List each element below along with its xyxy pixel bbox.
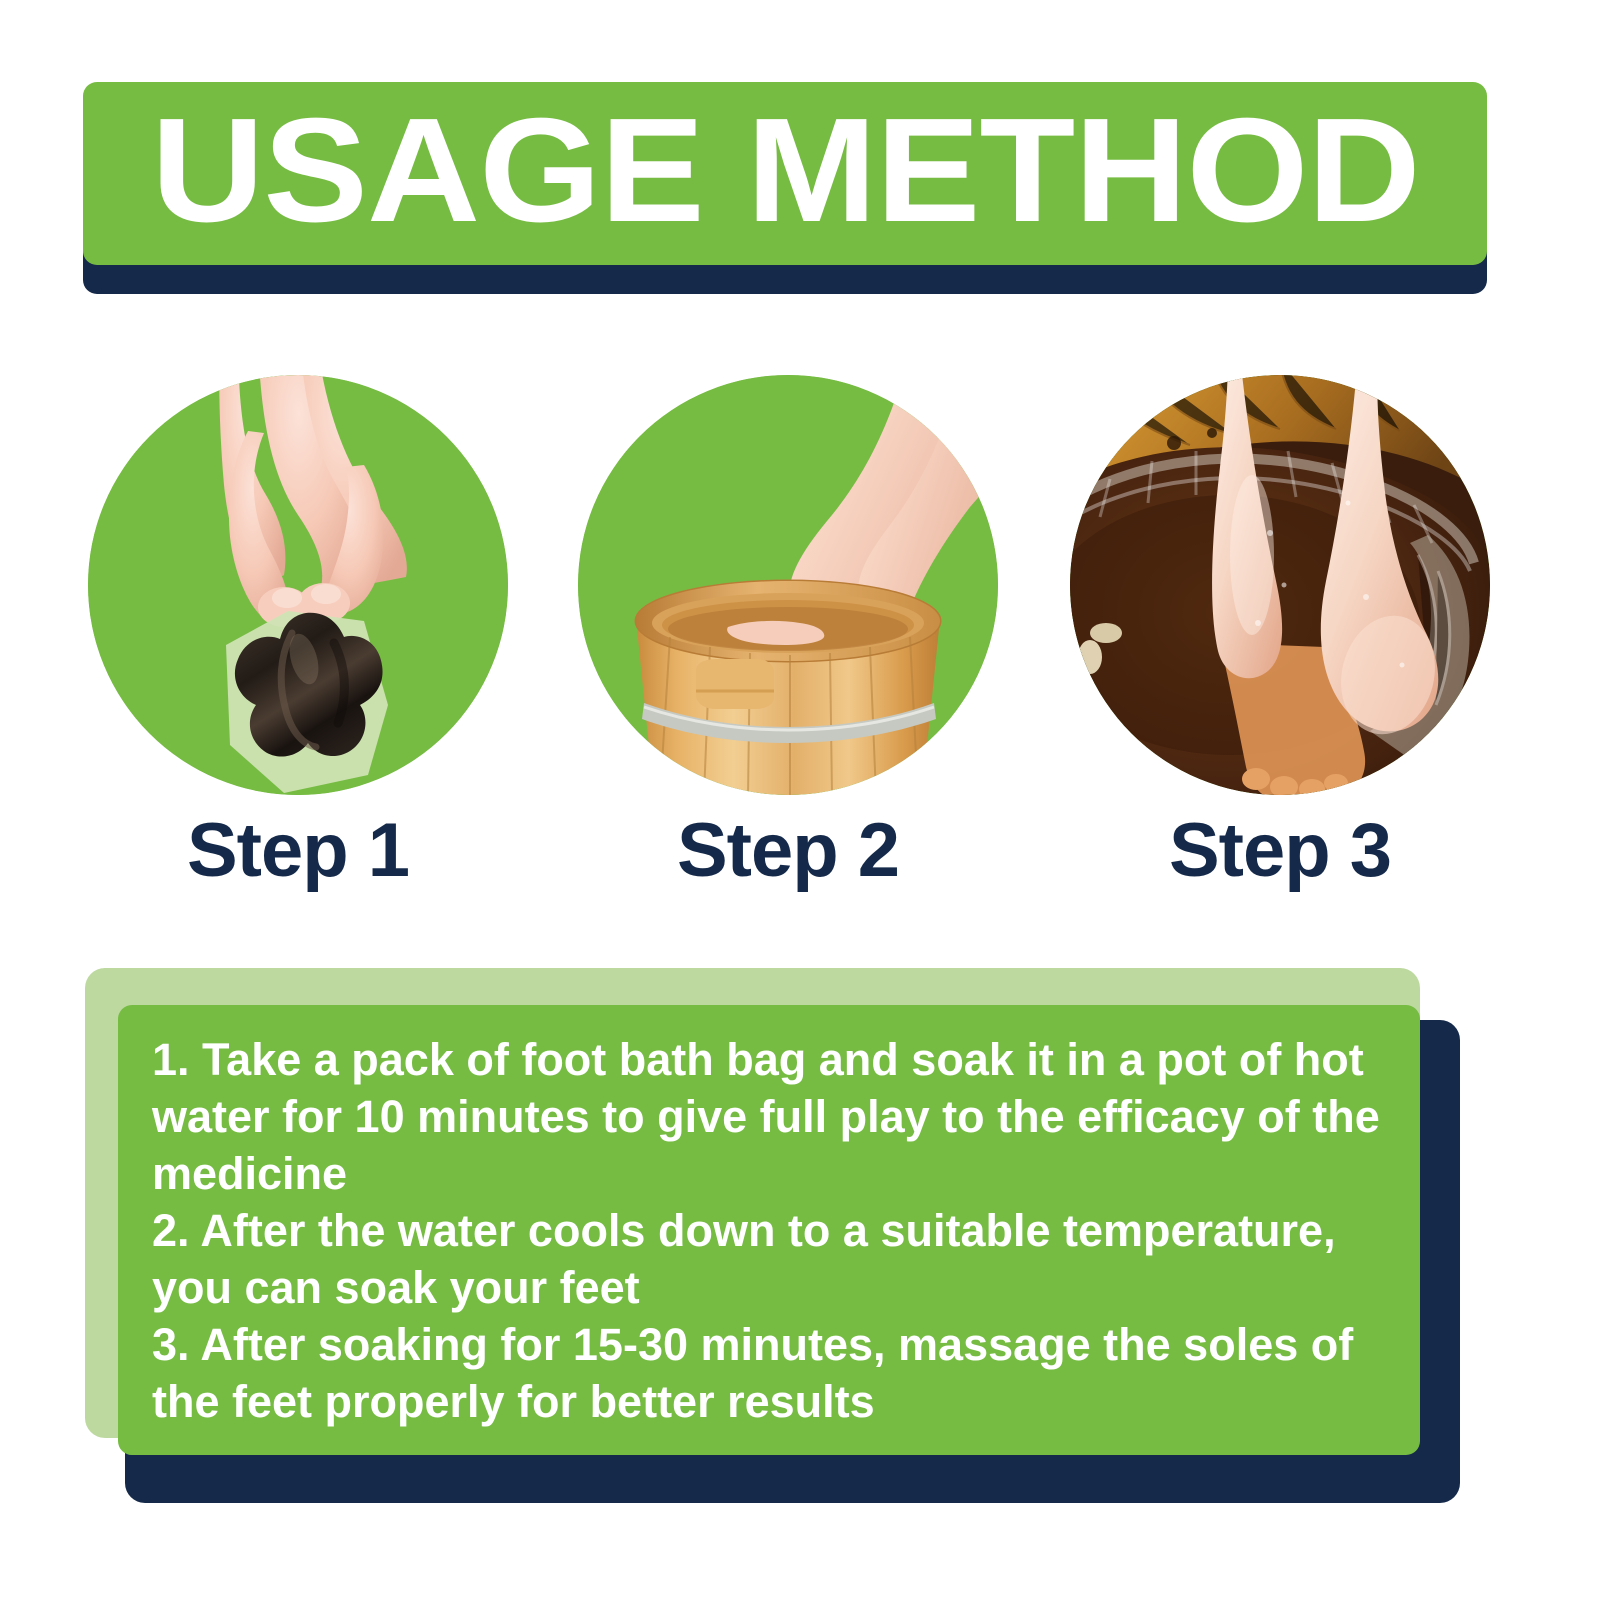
instruction-line-1: 1. Take a pack of foot bath bag and soak… <box>152 1031 1386 1202</box>
instruction-line-3: 3. After soaking for 15-30 minutes, mass… <box>152 1316 1386 1430</box>
step-3-caption: Step 3 <box>1070 811 1490 891</box>
page-title: USAGE METHOD <box>151 97 1420 245</box>
feet-in-wooden-foot-bath-tub-illustration <box>578 375 998 795</box>
instructions-panel: 1. Take a pack of foot bath bag and soak… <box>85 968 1460 1503</box>
step-2-image-circle <box>578 375 998 795</box>
feet-soaking-in-brown-herbal-water-illustration <box>1070 375 1490 795</box>
step-item-2: Step 2 <box>578 375 998 891</box>
step-3-image-circle <box>1070 375 1490 795</box>
step-item-3: Step 3 <box>1070 375 1490 891</box>
step-item-1: Step 1 <box>88 375 508 891</box>
step-2-caption: Step 2 <box>578 811 998 891</box>
step-1-image-circle <box>88 375 508 795</box>
instruction-line-2: 2. After the water cools down to a suita… <box>152 1202 1386 1316</box>
header-banner: USAGE METHOD <box>83 82 1487 294</box>
hand-holding-foot-bath-sachet-illustration <box>88 375 508 795</box>
header-green-plate: USAGE METHOD <box>83 82 1487 265</box>
step-1-caption: Step 1 <box>88 811 508 891</box>
instructions-green-plate: 1. Take a pack of foot bath bag and soak… <box>118 1005 1420 1455</box>
steps-row: Step 1 <box>88 375 1498 875</box>
